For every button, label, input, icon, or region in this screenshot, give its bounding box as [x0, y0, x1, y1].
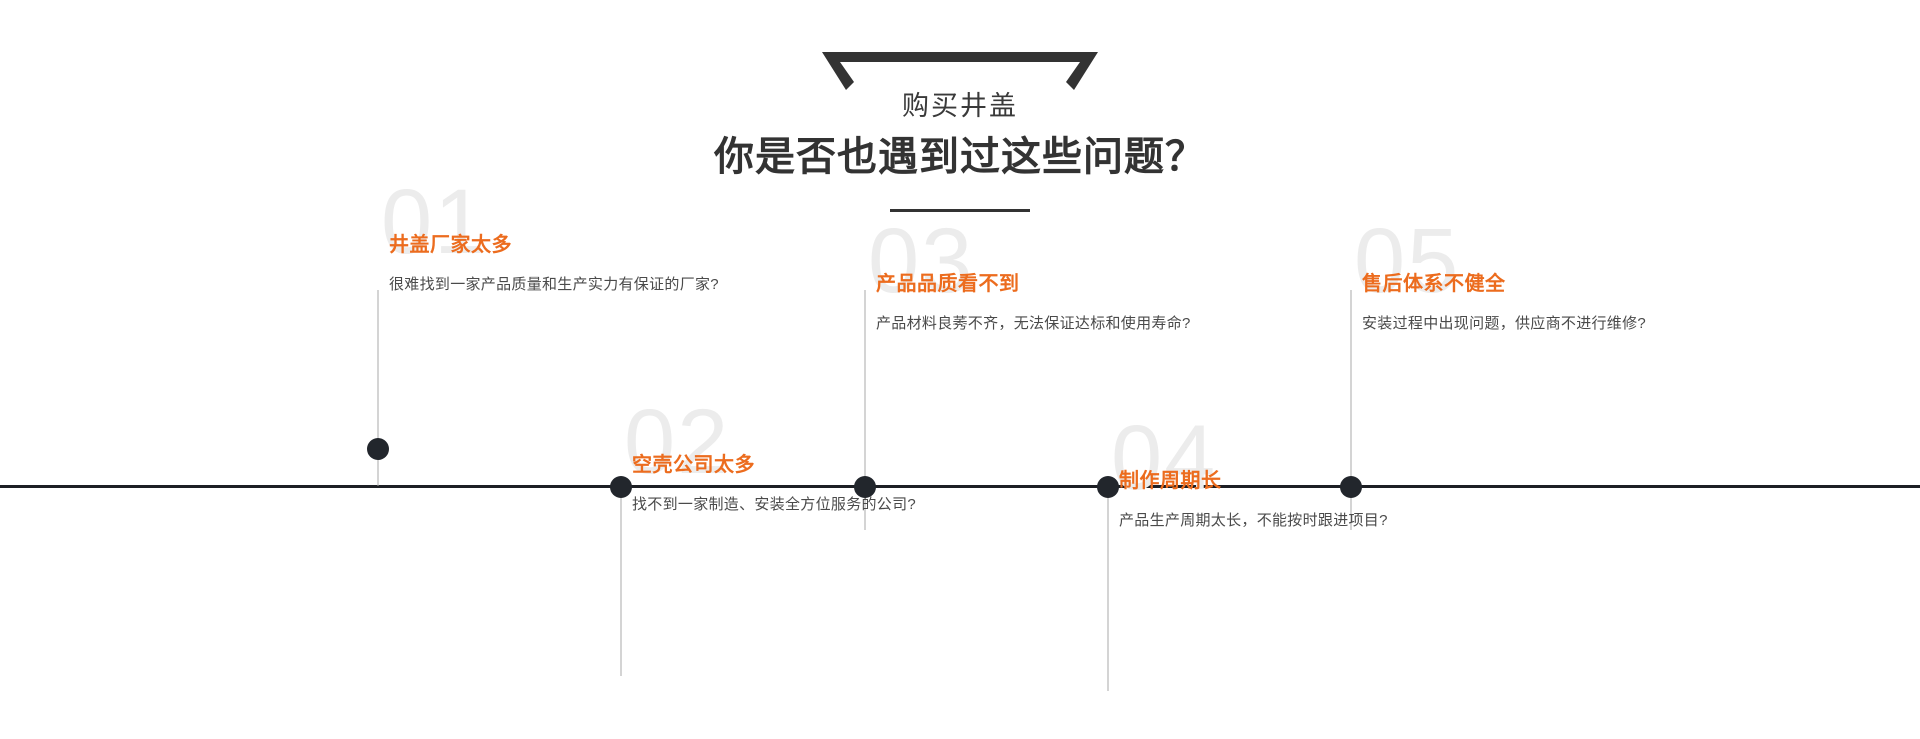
problem-heading-03: 产品品质看不到	[876, 271, 1206, 297]
header-subtitle: 购买井盖	[0, 89, 1920, 123]
problem-heading-05: 售后体系不健全	[1362, 271, 1692, 297]
trapezoid-bracket-icon	[822, 52, 1098, 90]
problem-item-03: 03 产品品质看不到 产品材料良莠不齐，无法保证达标和使用寿命?	[876, 271, 1206, 340]
timeline-dot-01[interactable]	[367, 438, 389, 460]
timeline-dot-04[interactable]	[1097, 476, 1119, 498]
problem-body-04: 产品生产周期太长，不能按时跟进项目?	[1119, 505, 1449, 537]
problem-heading-01: 井盖厂家太多	[389, 232, 719, 258]
timeline-dot-03[interactable]	[854, 476, 876, 498]
timeline-dot-05[interactable]	[1340, 476, 1362, 498]
problem-item-02: 02 空壳公司太多 找不到一家制造、安装全方位服务的公司?	[632, 452, 962, 521]
problem-body-05: 安装过程中出现问题，供应商不进行维修?	[1362, 308, 1692, 340]
problem-body-03: 产品材料良莠不齐，无法保证达标和使用寿命?	[876, 308, 1206, 340]
problem-body-01: 很难找到一家产品质量和生产实力有保证的厂家?	[389, 269, 719, 301]
problem-item-01: 01 井盖厂家太多 很难找到一家产品质量和生产实力有保证的厂家?	[389, 232, 719, 301]
problem-item-04: 04 制作周期长 产品生产周期太长，不能按时跟进项目?	[1119, 468, 1449, 537]
node-connector-02	[621, 486, 622, 676]
page-title: 你是否也遇到过这些问题？	[0, 130, 1920, 184]
node-connector-04	[1108, 486, 1109, 691]
problem-item-05: 05 售后体系不健全 安装过程中出现问题，供应商不进行维修?	[1362, 271, 1692, 340]
problem-heading-04: 制作周期长	[1119, 468, 1449, 494]
page-root: 购买井盖 你是否也遇到过这些问题？ 01 井盖厂家太多 很难找到一家产品质量和生…	[0, 0, 1920, 739]
timeline-dot-02[interactable]	[610, 476, 632, 498]
problem-body-02: 找不到一家制造、安装全方位服务的公司?	[632, 489, 962, 521]
problem-heading-02: 空壳公司太多	[632, 452, 962, 478]
